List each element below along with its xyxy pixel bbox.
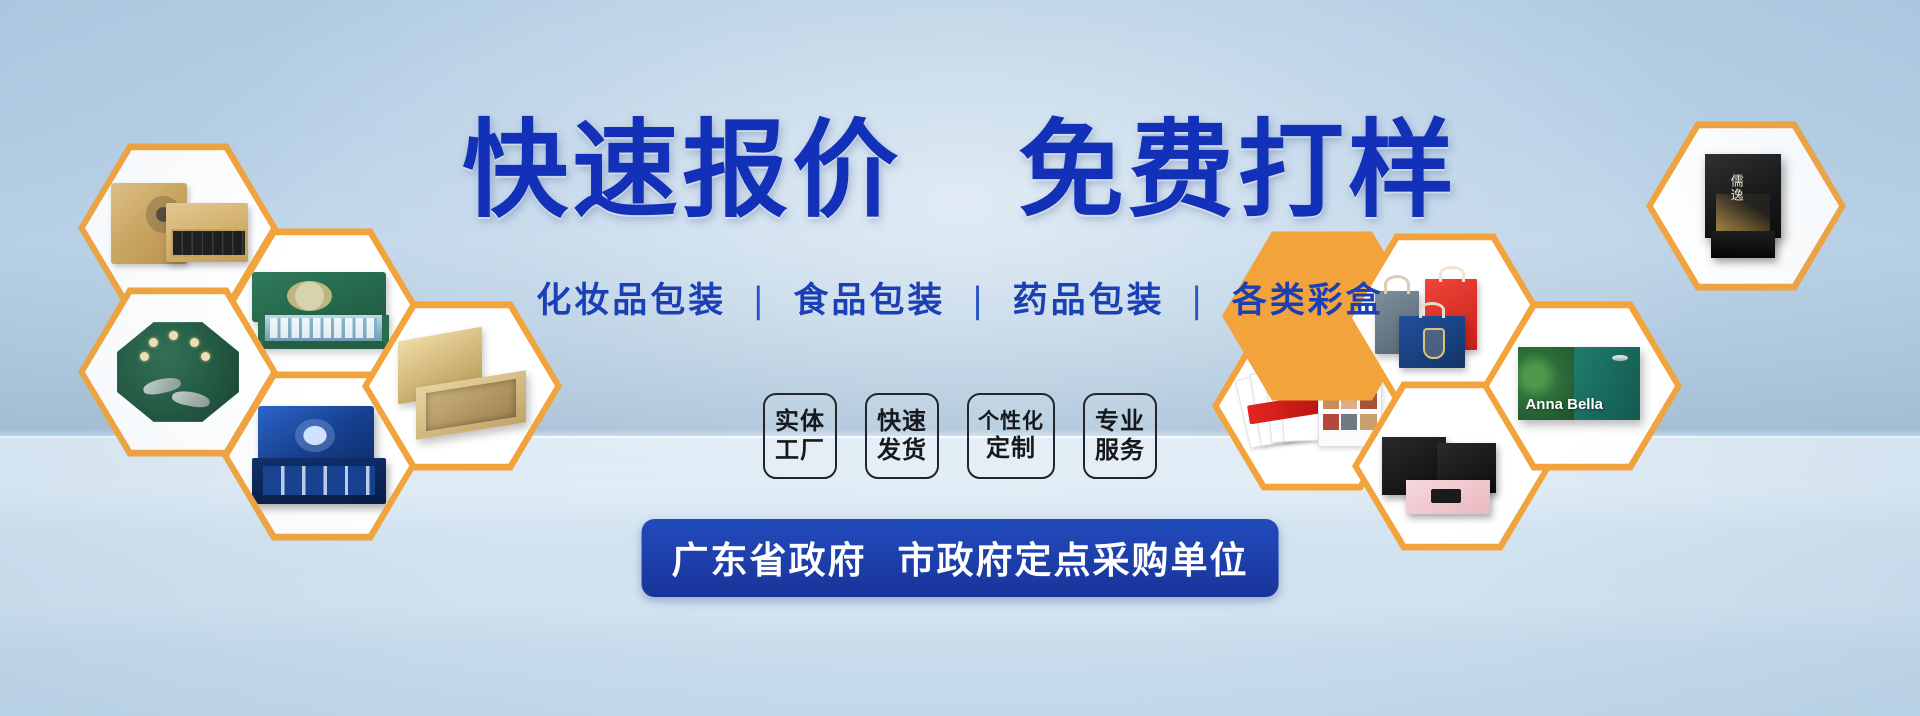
subline-item-3: 各类彩盒 bbox=[1232, 281, 1384, 321]
feature-pill-customization-line2: 定制 bbox=[986, 434, 1036, 463]
feature-pill-professional-service[interactable]: 专业 服务 bbox=[1083, 393, 1157, 479]
feature-pill-fast-shipping-line1: 快速 bbox=[877, 407, 927, 436]
banner-headline: 快速报价 免费打样 bbox=[0, 118, 1920, 224]
gov-badge-part-2: 市政府定点采购单位 bbox=[897, 539, 1248, 582]
feature-pill-customization[interactable]: 个性化 定制 bbox=[967, 393, 1055, 479]
gov-badge-part-1: 广东省政府 bbox=[672, 539, 867, 582]
feature-pill-professional-service-line1: 专业 bbox=[1095, 407, 1145, 436]
subline-item-1: 食品包装 bbox=[793, 281, 945, 321]
subline-separator-2: | bbox=[1191, 281, 1206, 321]
promo-banner: Anna Bella 儒逸 快速报价 免费打样 化妆品包装 | 食品包装 | 药… bbox=[0, 0, 1920, 716]
feature-pill-customization-line1: 个性化 bbox=[978, 409, 1044, 435]
feature-pill-fast-shipping-line2: 发货 bbox=[877, 436, 927, 465]
feature-pill-professional-service-line2: 服务 bbox=[1095, 436, 1145, 465]
headline-part-1: 快速报价 bbox=[462, 109, 902, 232]
feature-pill-fast-shipping[interactable]: 快速 发货 bbox=[865, 393, 939, 479]
headline-part-2: 免费打样 bbox=[1018, 109, 1458, 232]
subline-separator-1: | bbox=[972, 281, 987, 321]
feature-pill-factory-line2: 工厂 bbox=[775, 436, 825, 465]
banner-subline: 化妆品包装 | 食品包装 | 药品包装 | 各类彩盒 bbox=[0, 272, 1920, 323]
subline-item-0: 化妆品包装 bbox=[536, 281, 726, 321]
government-supplier-badge[interactable]: 广东省政府 市政府定点采购单位 bbox=[642, 519, 1279, 597]
feature-pill-factory[interactable]: 实体 工厂 bbox=[763, 393, 837, 479]
feature-pill-factory-line1: 实体 bbox=[775, 407, 825, 436]
subline-separator-0: | bbox=[752, 281, 767, 321]
feature-pill-group: 实体 工厂 快速 发货 个性化 定制 专业 服务 bbox=[0, 393, 1920, 479]
subline-item-2: 药品包装 bbox=[1013, 281, 1165, 321]
